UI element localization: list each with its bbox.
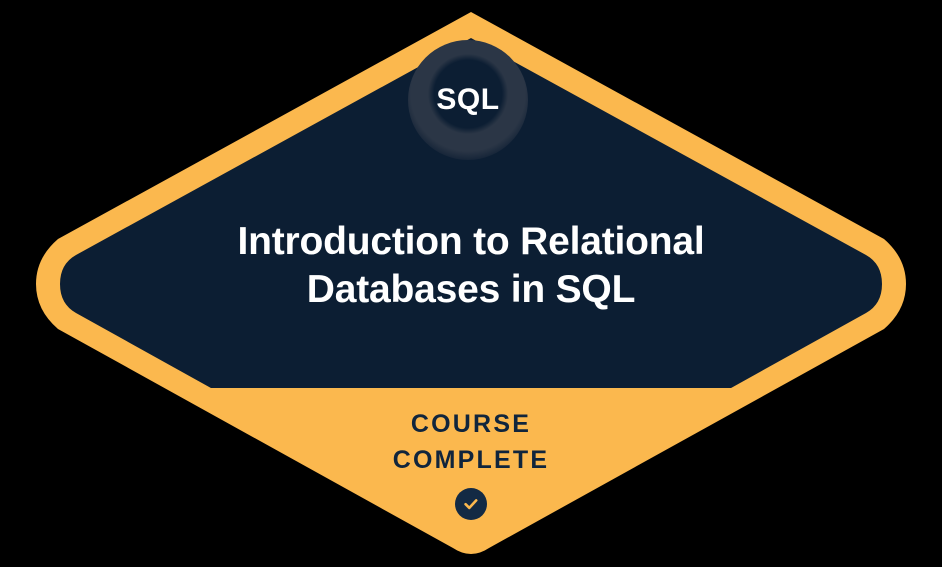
badge-canvas: SQL Introduction to Relational Databases… bbox=[0, 0, 942, 567]
course-completion-badge bbox=[0, 0, 942, 567]
